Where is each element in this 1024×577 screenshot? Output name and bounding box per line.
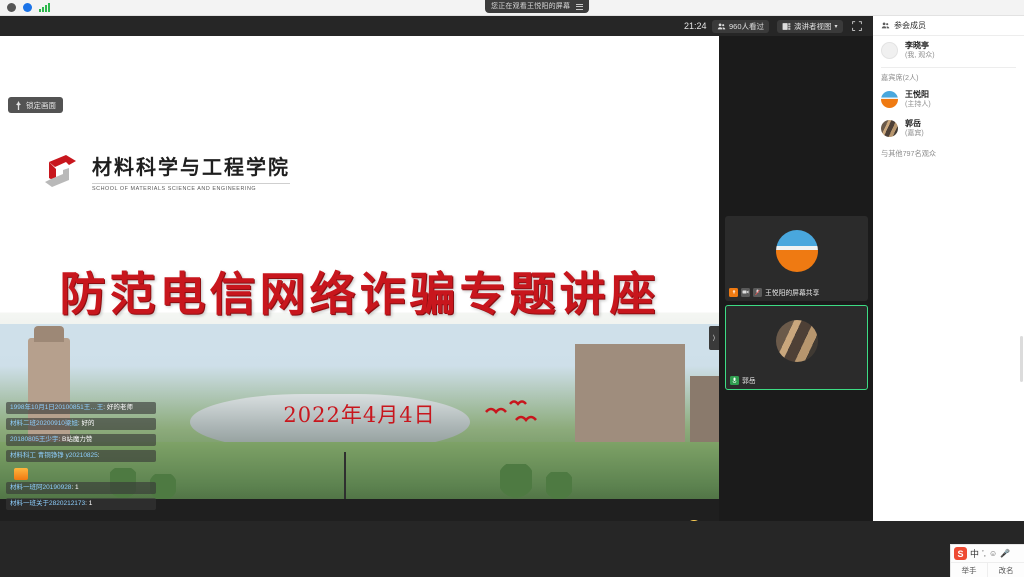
guest-section-label: 嘉宾席(2人) xyxy=(873,68,1024,85)
participant-role: (我, 观众) xyxy=(905,51,935,60)
participant-row-self[interactable]: 李晓亭 (我, 观众) xyxy=(873,36,1024,65)
meeting-toolbar: 举手 聊天 ? 问答 xyxy=(0,521,1024,577)
chat-user: 材料二班20200910梁旭 xyxy=(10,420,78,427)
raise-hand-quick-button[interactable]: 举手 xyxy=(951,563,987,577)
chat-text: 1 xyxy=(75,484,79,491)
drag-handle-icon[interactable] xyxy=(576,4,583,10)
chat-user: 材料科工 青铜铮铮 y20210825 xyxy=(10,452,98,459)
members-panel-title: 参会成员 xyxy=(894,20,926,31)
avatar xyxy=(881,120,898,137)
school-name-cn: 材料科学与工程学院 xyxy=(92,151,290,180)
participant-role: (主持人) xyxy=(905,100,931,109)
mic-icon[interactable]: 🎤 xyxy=(1000,549,1010,558)
viewing-screen-text: 您正在观看王悦阳的屏幕 xyxy=(491,0,570,13)
chat-user: 20180805王少宇 xyxy=(10,436,58,443)
lock-view-label: 锁定画面 xyxy=(26,100,56,111)
signal-icon[interactable] xyxy=(39,3,50,12)
sync-icon[interactable] xyxy=(23,3,32,12)
thumbnail-label: 郭岳 xyxy=(742,375,756,385)
mic-muted-icon xyxy=(753,288,762,297)
fullscreen-icon[interactable] xyxy=(851,20,864,33)
chevron-down-icon: ▾ xyxy=(835,23,838,30)
layout-selector[interactable]: 演讲者视图 ▾ xyxy=(777,20,843,33)
participant-row-host[interactable]: 王悦阳 (主持人) xyxy=(873,85,1024,114)
participant-name: 郭岳 xyxy=(905,119,924,129)
participant-name: 王悦阳 xyxy=(905,90,931,100)
chat-user: 1998年10月1日20100851王…王 xyxy=(10,404,103,411)
thumbnail-participant[interactable]: 郭岳 xyxy=(725,305,868,390)
app-root: 您正在观看王悦阳的屏幕 21:24 960人看过 演讲者视图 ▾ xyxy=(0,0,1024,577)
participant-role: (嘉宾) xyxy=(905,129,924,138)
top-controls: 960人看过 演讲者视图 ▾ xyxy=(712,16,885,36)
building-left-top xyxy=(34,326,64,342)
ime-controls: S 中 ’, ☺ 🎤 xyxy=(951,545,1024,560)
avatar xyxy=(881,42,898,59)
ime-quick-buttons: 举手 改名 xyxy=(951,562,1024,577)
chat-text: B站魔力赞 xyxy=(62,436,92,443)
shield-icon[interactable] xyxy=(7,3,16,12)
chat-level-badge-icon xyxy=(14,468,28,480)
other-viewers-label: 与其他797名观众 xyxy=(873,143,1024,165)
chat-text: 好的 xyxy=(82,420,95,427)
sogou-logo-icon[interactable]: S xyxy=(954,547,967,560)
chat-message: 20180805王少宇: B站魔力赞 xyxy=(6,434,156,446)
pin-icon xyxy=(15,101,22,110)
clock: 21:24 xyxy=(684,16,707,36)
school-logo-icon xyxy=(36,146,82,196)
avatar xyxy=(776,320,818,362)
speaker-view-icon xyxy=(782,22,791,31)
avatar xyxy=(881,91,898,108)
thumbnail-screen-share[interactable]: 王悦阳的屏幕共享 xyxy=(725,216,868,301)
logo-divider xyxy=(92,183,290,184)
emoji-icon[interactable] xyxy=(686,520,702,521)
like-widget[interactable]: 👍 5.6万 xyxy=(676,520,712,521)
participant-row-guest[interactable]: 郭岳 (嘉宾) xyxy=(873,114,1024,143)
birds-decoration xyxy=(480,400,550,430)
avatar xyxy=(776,230,818,272)
street-lamp xyxy=(344,452,346,500)
chat-message: 1998年10月1日20100851王…王: 好的老师 xyxy=(6,402,156,414)
chat-message: 材料一班关于2820212173: 1 xyxy=(6,498,156,510)
share-screen-icon xyxy=(729,288,738,297)
ime-toolbar: S 中 ’, ☺ 🎤 举手 改名 xyxy=(950,544,1024,577)
thumbnail-label: 王悦阳的屏幕共享 xyxy=(765,287,819,297)
layout-label: 演讲者视图 xyxy=(794,21,832,32)
chat-user: 材料一班阿20190928 xyxy=(10,484,71,491)
shared-screen-stage[interactable]: 材料科学与工程学院 SCHOOL OF MATERIALS SCIENCE AN… xyxy=(0,36,719,521)
video-thumbnail-column: 王悦阳的屏幕共享 郭岳 xyxy=(719,36,873,521)
video-off-icon xyxy=(741,288,750,297)
punctuation-icon[interactable]: ’, xyxy=(982,549,986,558)
lock-view-button[interactable]: 锁定画面 xyxy=(8,97,63,113)
people-icon xyxy=(881,21,890,30)
school-logo-lockup: 材料科学与工程学院 SCHOOL OF MATERIALS SCIENCE AN… xyxy=(36,146,290,196)
chat-message: 材料二班20200910梁旭: 好的 xyxy=(6,418,156,430)
chat-message: 材料一班阿20190928: 1 xyxy=(6,482,156,494)
viewers-chip[interactable]: 960人看过 xyxy=(712,20,769,33)
thumbnail-footer: 郭岳 xyxy=(730,375,756,385)
panel-scrollbar[interactable] xyxy=(1020,336,1023,382)
chat-message: 材料科工 青铜铮铮 y20210825: xyxy=(6,450,156,462)
chat-user: 材料一班关于2820212173 xyxy=(10,500,85,507)
emoji-icon[interactable]: ☺ xyxy=(989,549,997,558)
stage-expand-arrow[interactable]: ⟩ xyxy=(709,326,719,350)
participants-panel: 李晓亭 (我, 观众) 嘉宾席(2人) 王悦阳 (主持人) 郭岳 (嘉宾) 与其… xyxy=(873,36,1024,521)
viewing-screen-banner: 您正在观看王悦阳的屏幕 xyxy=(485,0,589,13)
thumbnail-footer: 王悦阳的屏幕共享 xyxy=(729,287,819,297)
slide-title: 防范电信网络诈骗专题讲座 xyxy=(0,258,719,324)
ime-mode-toggle[interactable]: 中 xyxy=(970,547,979,560)
school-logo-text: 材料科学与工程学院 SCHOOL OF MATERIALS SCIENCE AN… xyxy=(92,151,290,192)
viewers-count-label: 960人看过 xyxy=(729,21,764,32)
participant-name: 李晓亭 xyxy=(905,41,935,51)
chat-text: 好的老师 xyxy=(107,404,133,411)
rename-quick-button[interactable]: 改名 xyxy=(987,563,1024,577)
members-panel-header: 参会成员 xyxy=(873,16,1024,36)
people-icon xyxy=(717,22,726,31)
chat-text: 1 xyxy=(89,500,93,507)
school-name-en: SCHOOL OF MATERIALS SCIENCE AND ENGINEER… xyxy=(92,186,290,192)
live-chat-overlay: 1998年10月1日20100851王…王: 好的老师 材料二班20200910… xyxy=(6,402,156,521)
mic-on-icon xyxy=(730,376,739,385)
